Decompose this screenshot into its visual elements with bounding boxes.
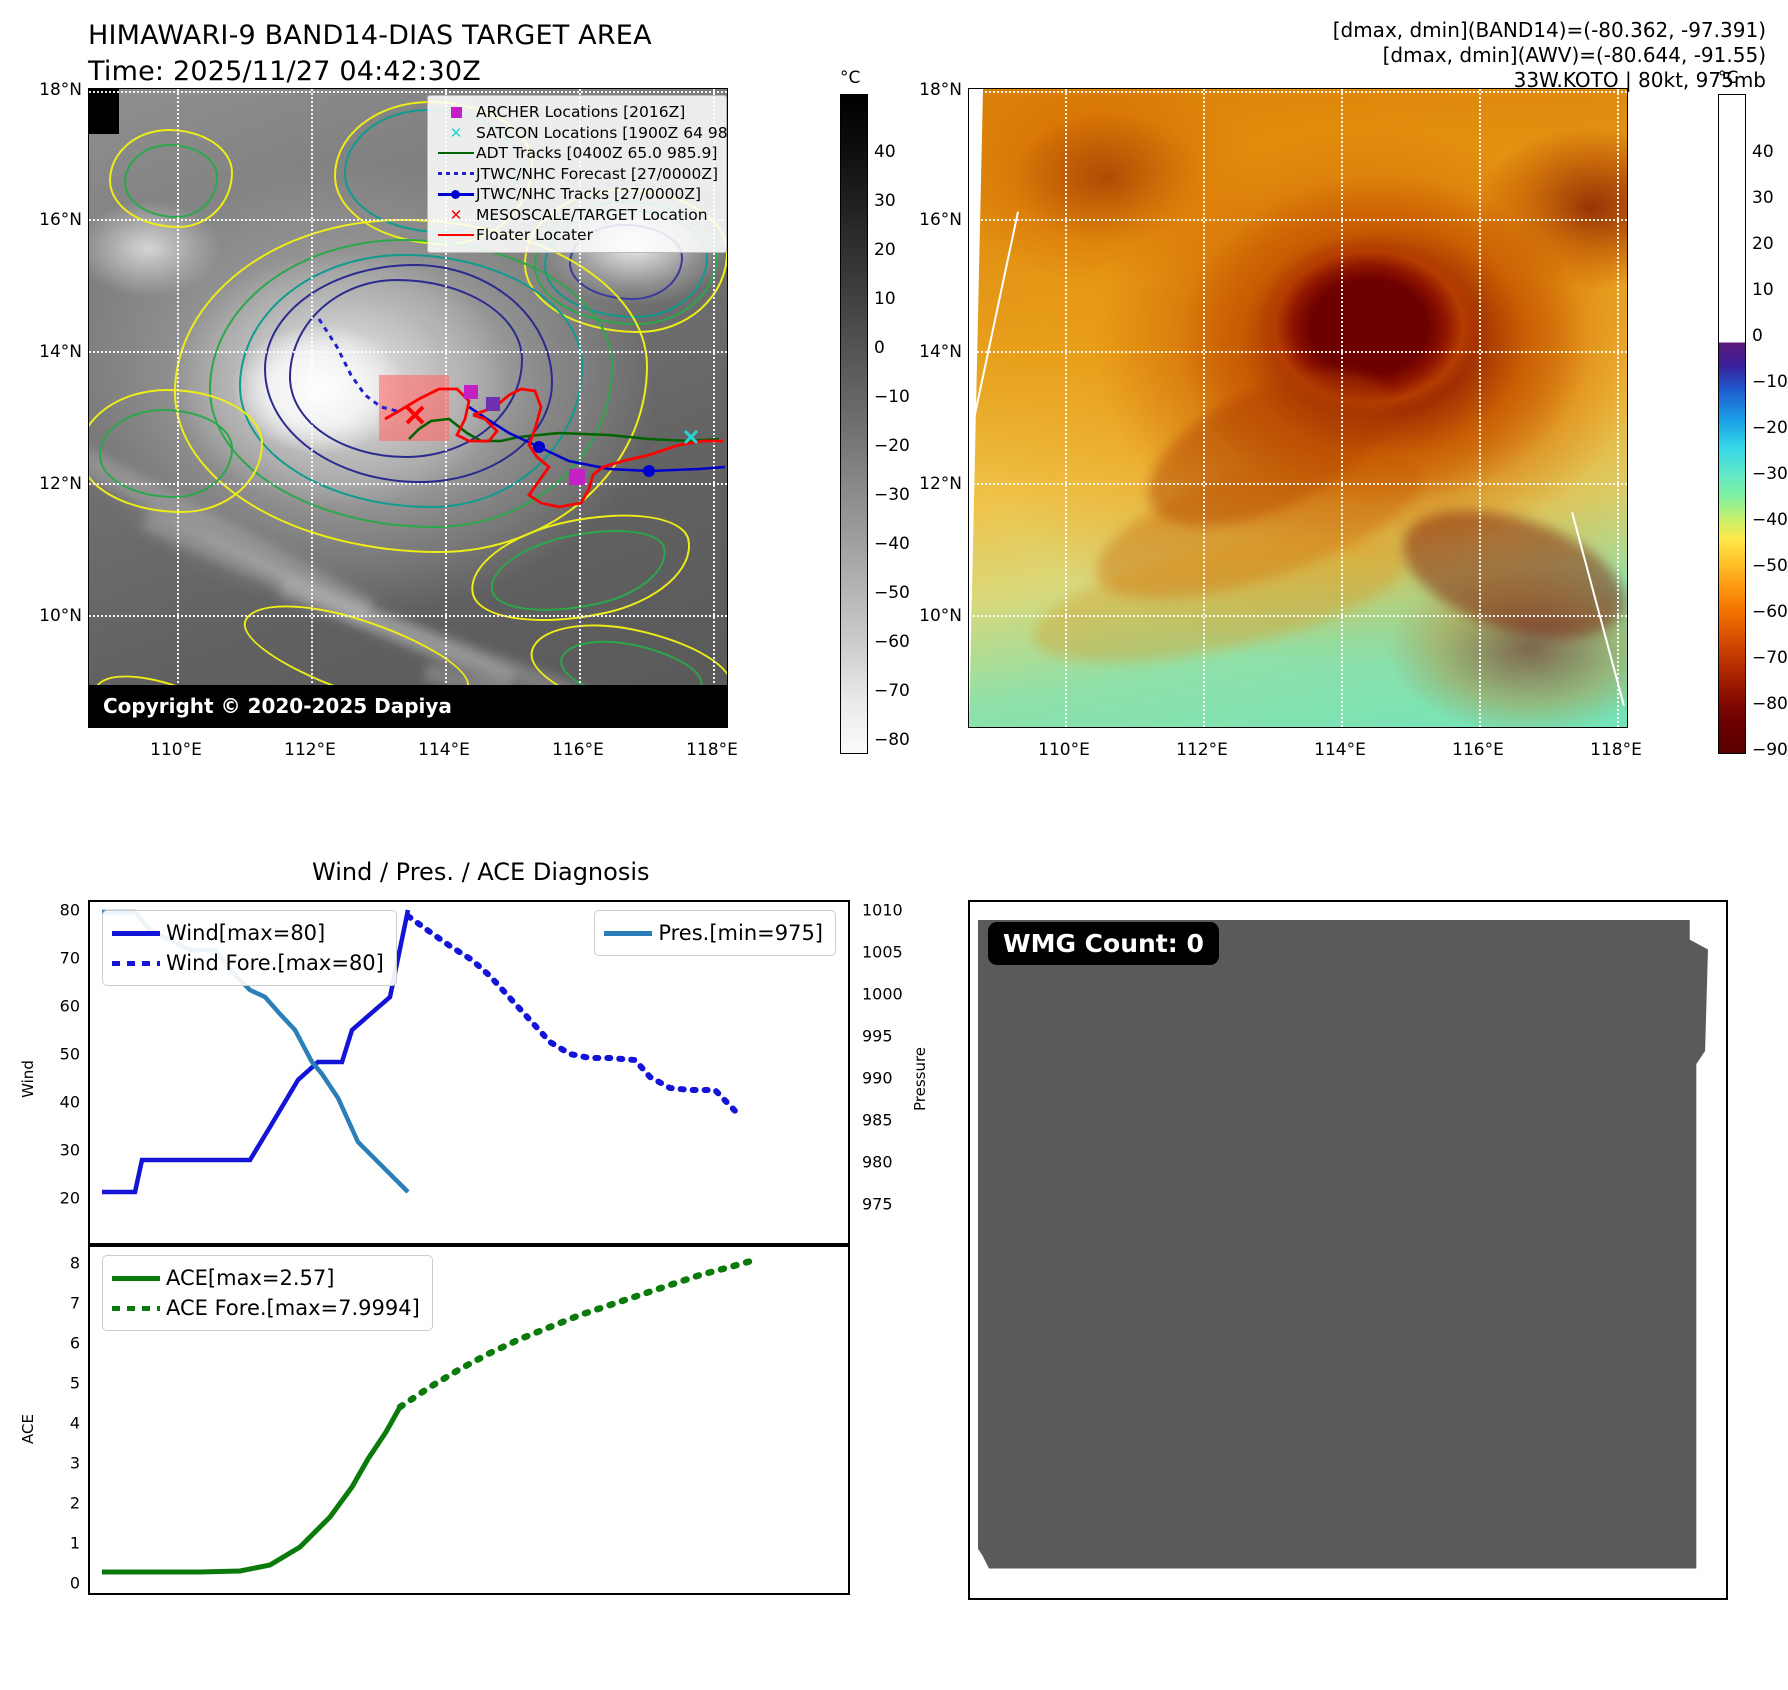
map-gridline-vertical xyxy=(1203,89,1205,727)
legend-label: MESOSCALE/TARGET Location xyxy=(476,207,708,223)
colorbar-tick-right: −10 xyxy=(1752,372,1788,392)
wmg-gray-area xyxy=(978,920,1708,1575)
legend-label: Floater Locater xyxy=(476,227,593,243)
colorbar-tick: 30 xyxy=(874,191,896,211)
legend-label: JTWC/NHC Forecast [27/0000Z] xyxy=(476,166,718,182)
lat-tick-12n: 12°N xyxy=(12,474,82,494)
ace-ytick: 2 xyxy=(38,1494,80,1513)
colorbar-gradient-right xyxy=(1718,94,1746,754)
ace-chart[interactable]: ACE[max=2.57] ACE Fore.[max=7.9994] xyxy=(88,1245,850,1595)
legend-item: Wind Fore.[max=80] xyxy=(112,948,384,978)
lon-tick-110e-right: 110°E xyxy=(1019,740,1109,760)
legend-item: Pres.[min=975] xyxy=(604,918,823,948)
ace-series-solid xyxy=(102,1407,400,1572)
lon-tick-118e: 118°E xyxy=(667,740,757,760)
legend-label: Wind[max=80] xyxy=(166,921,325,945)
map-gridline-horizontal xyxy=(969,483,1627,485)
dmax-awv-text: [dmax, dmin](AWV)=(-80.644, -91.55) xyxy=(1333,43,1766,68)
colorbar-tick-right: 10 xyxy=(1752,280,1774,300)
colorbar-tick: −20 xyxy=(874,436,910,456)
lat-tick-14n-right: 14°N xyxy=(892,342,962,362)
solid-line-red-icon xyxy=(436,234,476,236)
ace-legend: ACE[max=2.57] ACE Fore.[max=7.9994] xyxy=(102,1255,433,1331)
ace-ytick: 8 xyxy=(38,1254,80,1273)
title-text: HIMAWARI-9 BAND14-DIAS TARGET AREA xyxy=(88,18,988,54)
lat-tick-12n-right: 12°N xyxy=(892,474,962,494)
lon-tick-116e: 116°E xyxy=(533,740,623,760)
copyright-text: Copyright © 2020-2025 Dapiya xyxy=(103,694,452,718)
floater-locater-line xyxy=(473,389,723,507)
legend-label: ADT Tracks [0400Z 65.0 985.9] xyxy=(476,145,717,161)
lat-tick-16n: 16°N xyxy=(12,210,82,230)
map-gridline-vertical xyxy=(1479,89,1481,727)
lat-tick-10n-right: 10°N xyxy=(892,606,962,626)
solid-line-icon xyxy=(112,1276,166,1281)
colorbar-unit-label-right: °C xyxy=(1718,68,1738,88)
ace-ytick: 5 xyxy=(38,1374,80,1393)
legend-item: Floater Locater xyxy=(436,225,720,246)
ace-ytick: 3 xyxy=(38,1454,80,1473)
dotted-line-icon xyxy=(112,961,166,966)
lon-tick-118e-right: 118°E xyxy=(1571,740,1661,760)
wind-ytick: 80 xyxy=(38,901,80,920)
header-stats: [dmax, dmin](BAND14)=(-80.362, -97.391) … xyxy=(1333,18,1766,93)
colorbar-tick-right: −50 xyxy=(1752,556,1788,576)
map-gridline-vertical xyxy=(1617,89,1619,727)
legend-label: ARCHER Locations [2016Z] xyxy=(476,104,685,120)
ace-series-forecast xyxy=(400,1259,758,1407)
colorbar-tick-right: −90 xyxy=(1752,740,1788,760)
pressure-ytick: 1000 xyxy=(862,985,922,1004)
colorbar-tick: −50 xyxy=(874,583,910,603)
colorbar-tick-right: −30 xyxy=(1752,464,1788,484)
ace-ytick: 0 xyxy=(38,1574,80,1593)
wind-ytick: 60 xyxy=(38,997,80,1016)
colorbar-tick-right: 0 xyxy=(1752,326,1763,346)
legend-label: Pres.[min=975] xyxy=(658,921,823,945)
ir-enhanced-map-panel[interactable] xyxy=(968,88,1628,728)
wind-ytick: 70 xyxy=(38,949,80,968)
adt-track-line xyxy=(409,419,719,441)
legend-item: ✕ MESOSCALE/TARGET Location xyxy=(436,205,720,226)
lon-tick-114e-right: 114°E xyxy=(1295,740,1385,760)
lon-tick-112e-right: 112°E xyxy=(1157,740,1247,760)
dotted-line-icon xyxy=(436,172,476,175)
lat-tick-18n: 18°N xyxy=(12,80,82,100)
pressure-ytick: 995 xyxy=(862,1027,922,1046)
colorbar-unit-label: °C xyxy=(840,68,860,88)
wind-ytick: 30 xyxy=(38,1141,80,1160)
legend-item: ACE[max=2.57] xyxy=(112,1263,420,1293)
archer-location-marker xyxy=(569,469,585,485)
legend-item: JTWC/NHC Forecast [27/0000Z] xyxy=(436,164,720,185)
lat-tick-18n-right: 18°N xyxy=(892,80,962,100)
wind-ytick: 40 xyxy=(38,1093,80,1112)
lat-tick-10n: 10°N xyxy=(12,606,82,626)
wmg-panel[interactable]: WMG Count: 0 xyxy=(968,900,1728,1600)
legend-label: SATCON Locations [1900Z 64 982] xyxy=(476,125,728,141)
ir-gray-map-panel[interactable]: ARCHER Locations [2016Z] ✕ SATCON Locati… xyxy=(88,88,728,728)
map-gridline-horizontal xyxy=(969,351,1627,353)
lon-tick-112e: 112°E xyxy=(265,740,355,760)
legend-item: ADT Tracks [0400Z 65.0 985.9] xyxy=(436,143,720,164)
lon-tick-114e: 114°E xyxy=(399,740,489,760)
wmg-count-badge: WMG Count: 0 xyxy=(988,922,1219,965)
map-gridline-horizontal xyxy=(969,219,1627,221)
pressure-ytick: 975 xyxy=(862,1195,922,1214)
colorbar-tick-right: 30 xyxy=(1752,188,1774,208)
line-with-dot-icon xyxy=(436,193,476,196)
pressure-ytick: 1005 xyxy=(862,943,922,962)
legend-item: ACE Fore.[max=7.9994] xyxy=(112,1293,420,1323)
x-marker-icon: ✕ xyxy=(436,128,476,138)
dmax-band14-text: [dmax, dmin](BAND14)=(-80.362, -97.391) xyxy=(1333,18,1766,43)
x-marker-red-icon: ✕ xyxy=(436,210,476,220)
wind-legend: Wind[max=80] Wind Fore.[max=80] xyxy=(102,910,397,986)
solid-line-icon xyxy=(436,152,476,154)
lon-tick-116e-right: 116°E xyxy=(1433,740,1523,760)
legend-label: ACE[max=2.57] xyxy=(166,1266,334,1290)
wind-pressure-chart[interactable]: Wind[max=80] Wind Fore.[max=80] Pres.[mi… xyxy=(88,900,850,1245)
lat-tick-16n-right: 16°N xyxy=(892,210,962,230)
pressure-ytick: 980 xyxy=(862,1153,922,1172)
ace-ytick: 6 xyxy=(38,1334,80,1353)
wmg-count-text: WMG Count: 0 xyxy=(1003,929,1204,958)
colorbar-tick-right: −80 xyxy=(1752,694,1788,714)
colorbar-tick: −80 xyxy=(874,730,910,750)
colorbar-tick: −60 xyxy=(874,632,910,652)
colorbar-tick: 40 xyxy=(874,142,896,162)
colorbar-gradient xyxy=(840,94,868,754)
colorbar-tick: −10 xyxy=(874,387,910,407)
jtwc-track-point xyxy=(643,465,655,477)
wind-ytick: 50 xyxy=(38,1045,80,1064)
square-marker-icon xyxy=(436,107,476,118)
wind-ytick: 20 xyxy=(38,1189,80,1208)
target-box xyxy=(379,375,449,441)
wind-axis-label: Wind xyxy=(19,1049,37,1109)
colorbar-tick: −40 xyxy=(874,534,910,554)
map-gridline-vertical xyxy=(1065,89,1067,727)
colorbar-tick: 10 xyxy=(874,289,896,309)
colorbar-tick-right: −40 xyxy=(1752,510,1788,530)
archer-location-marker xyxy=(464,385,478,399)
map-legend: ARCHER Locations [2016Z] ✕ SATCON Locati… xyxy=(427,95,727,253)
colorbar-tick: 0 xyxy=(874,338,885,358)
lon-tick-110e: 110°E xyxy=(131,740,221,760)
colorbar-tick-right: −20 xyxy=(1752,418,1788,438)
pressure-ytick: 985 xyxy=(862,1111,922,1130)
copyright-banner: Copyright © 2020-2025 Dapiya xyxy=(89,685,727,727)
legend-label: ACE Fore.[max=7.9994] xyxy=(166,1296,420,1320)
diagnosis-title: Wind / Pres. / ACE Diagnosis xyxy=(312,858,650,886)
colorbar-tick-right: −60 xyxy=(1752,602,1788,622)
pressure-legend: Pres.[min=975] xyxy=(594,910,836,956)
colorbar-tick-right: −70 xyxy=(1752,648,1788,668)
ace-ytick: 4 xyxy=(38,1414,80,1433)
ace-ytick: 7 xyxy=(38,1294,80,1313)
colorbar-tick-right: 40 xyxy=(1752,142,1774,162)
pressure-ytick: 1010 xyxy=(862,901,922,920)
colorbar-tick: 20 xyxy=(874,240,896,260)
map-gridline-vertical xyxy=(1341,89,1343,727)
legend-item: JTWC/NHC Tracks [27/0000Z] xyxy=(436,184,720,205)
legend-item: ARCHER Locations [2016Z] xyxy=(436,102,720,123)
legend-label: JTWC/NHC Tracks [27/0000Z] xyxy=(476,186,701,202)
map-gridline-horizontal xyxy=(969,615,1627,617)
lat-tick-14n: 14°N xyxy=(12,342,82,362)
solid-line-icon xyxy=(112,931,166,936)
archer-location-marker xyxy=(486,397,500,411)
legend-item: ✕ SATCON Locations [1900Z 64 982] xyxy=(436,123,720,144)
legend-label: Wind Fore.[max=80] xyxy=(166,951,384,975)
ace-axis-label: ACE xyxy=(19,1399,37,1459)
pressure-ytick: 990 xyxy=(862,1069,922,1088)
map-gridline-horizontal xyxy=(969,91,1627,93)
dotted-line-icon xyxy=(112,1306,166,1311)
legend-item: Wind[max=80] xyxy=(112,918,384,948)
colorbar-tick: −70 xyxy=(874,681,910,701)
solid-line-icon xyxy=(604,931,658,936)
ace-ytick: 1 xyxy=(38,1534,80,1553)
colorbar-tick-right: 20 xyxy=(1752,234,1774,254)
